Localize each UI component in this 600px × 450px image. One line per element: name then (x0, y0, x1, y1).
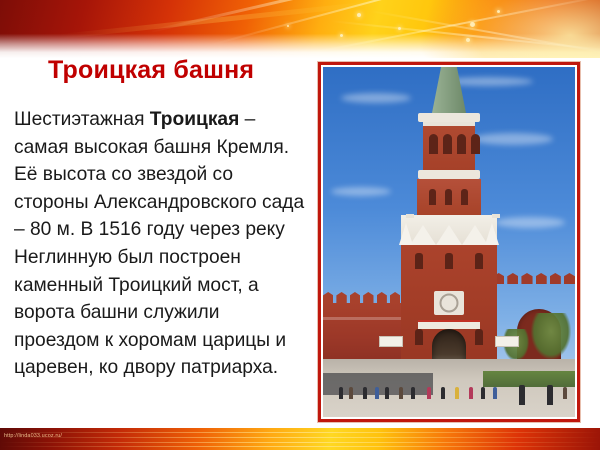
pedestrian (411, 387, 415, 399)
banner-sparkle (398, 27, 401, 30)
tower-round-emblem (434, 291, 464, 315)
pedestrian (385, 387, 389, 399)
gate-white-band (418, 320, 480, 329)
photo-frame (318, 62, 580, 422)
banner-sparkle (470, 22, 475, 27)
pedestrian (493, 387, 497, 399)
pedestrian (339, 387, 343, 399)
banner-light-streak (0, 446, 600, 447)
pedestrian (547, 385, 553, 405)
banner-glow (420, 0, 600, 58)
tower-pinnacle (485, 223, 499, 245)
banner-sparkle (287, 25, 289, 27)
belfry-arches (429, 134, 480, 154)
cloud (331, 187, 391, 196)
banner-light-streak (0, 442, 600, 443)
cloud (495, 217, 565, 228)
kremlin-tower-photo (323, 67, 575, 417)
banner-sparkle (340, 34, 343, 37)
trinity-tower (401, 67, 497, 375)
top-banner-decoration (0, 0, 600, 58)
tower-white-tier (418, 170, 480, 179)
source-watermark: http://linda033.ucoz.ru/ (4, 433, 62, 439)
banner-light-streak (0, 437, 600, 438)
pedestrian (519, 385, 525, 405)
banner-light-streak (370, 10, 600, 55)
banner-light-streak (330, 20, 600, 52)
pedestrian (375, 387, 379, 399)
body-text-emphasis: Троицкая (150, 109, 240, 130)
body-text-prefix: Шестиэтажная (14, 109, 150, 130)
banner-light-streak (60, 0, 389, 39)
pedestrian (469, 387, 473, 399)
banner-light-streak (210, 0, 597, 46)
info-plaque (379, 336, 403, 347)
pedestrian (563, 387, 567, 399)
pinnacle-flag (492, 214, 500, 218)
pedestrian (363, 387, 367, 399)
pedestrian (349, 387, 353, 399)
pedestrian (399, 387, 403, 399)
tower-white-tier (418, 113, 480, 122)
tower-belfry (423, 122, 475, 170)
tower-brick-body (401, 245, 497, 375)
tower-green-spire (432, 67, 466, 113)
pedestrian (441, 387, 445, 399)
info-plaque (495, 336, 519, 347)
tower-mid-tier (417, 179, 481, 215)
banner-light-streak (300, 0, 600, 56)
tree (531, 313, 571, 359)
bottom-banner-decoration (0, 428, 600, 450)
body-paragraph: Шестиэтажная Троицкая – самая высокая ба… (14, 106, 310, 382)
pedestrian (427, 387, 431, 399)
banner-sparkle (357, 13, 361, 17)
slide-canvas: Троицкая башня Шестиэтажная Троицкая – с… (0, 0, 600, 450)
pinnacle-flag (406, 214, 414, 218)
banner-sparkle (497, 10, 500, 13)
page-title: Троицкая башня (48, 56, 254, 85)
body-text-rest: – самая высокая башня Кремля. Её высота … (14, 109, 304, 378)
pedestrian (481, 387, 485, 399)
banner-sparkle (466, 38, 470, 42)
tower-pinnacle (399, 223, 413, 245)
banner-light-streak (0, 432, 600, 433)
pedestrian (455, 387, 459, 399)
tower-decorative-crown (401, 215, 497, 245)
grass-lawn (483, 371, 575, 387)
